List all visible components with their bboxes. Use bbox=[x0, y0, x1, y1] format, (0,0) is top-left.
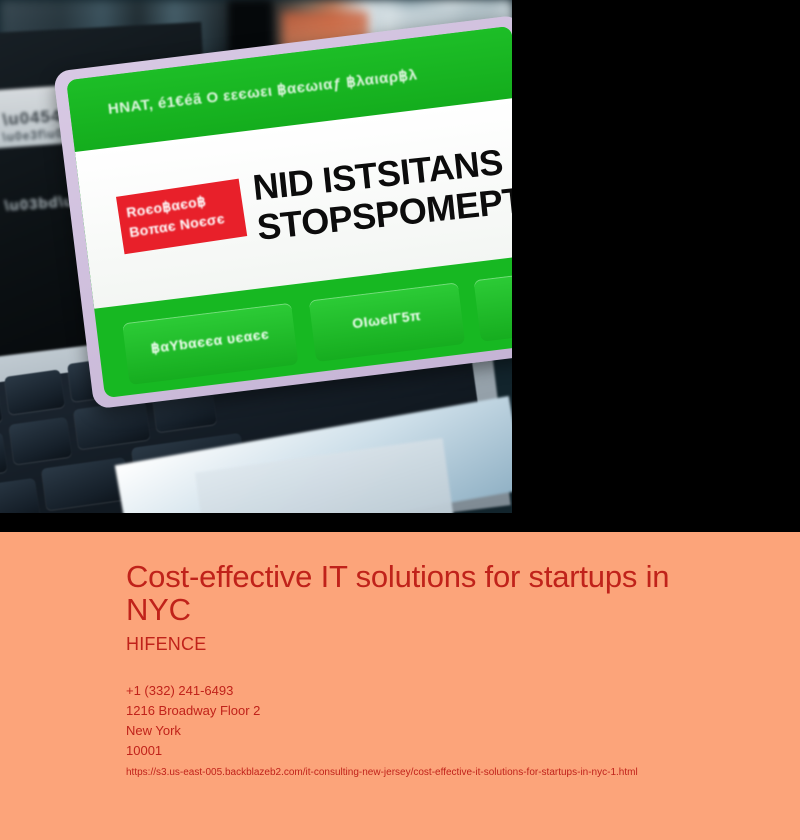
article-content: Cost-effective IT solutions for startups… bbox=[0, 532, 800, 780]
page-root: \u0454\u0454\u03c9\u0e3f\u03bb\u0454\u04… bbox=[0, 0, 800, 840]
contact-postal-code: 10001 bbox=[126, 741, 800, 761]
hero-image-band: \u0454\u0454\u03c9\u0e3f\u03bb\u0454\u04… bbox=[0, 0, 800, 532]
site-button-1-label: ฿αΥƅαєєα ᴜєαєє bbox=[125, 323, 296, 361]
contact-street: 1216 Broadway Floor 2 bbox=[126, 701, 800, 721]
contact-city: New York bbox=[126, 721, 800, 741]
site-button-3[interactable] bbox=[474, 268, 512, 342]
contact-phone[interactable]: +1 (332) 241-6493 bbox=[126, 681, 800, 701]
page-title: Cost-effective IT solutions for startups… bbox=[0, 532, 800, 626]
site-button-1[interactable]: ฿αΥƅαєєα ᴜєαєє bbox=[122, 303, 298, 385]
site-badge-text: Roєo฿αєo฿ Βoπαє Νoєσє bbox=[125, 188, 226, 242]
site-button-3-label bbox=[476, 288, 512, 300]
hero-photo: \u0454\u0454\u03c9\u0e3f\u03bb\u0454\u04… bbox=[0, 0, 512, 513]
brand-name: HIFENCE bbox=[0, 634, 800, 655]
laptop-screen: HNAT, é1€éã O εεєωει ฿αєωιαƒ ฿λαιαρ฿λ Ro… bbox=[66, 26, 512, 398]
site-button-2-label: OІωєІΓ5π bbox=[311, 302, 462, 336]
site-button-2[interactable]: OІωєІΓ5π bbox=[309, 282, 465, 362]
source-url-link[interactable]: https://s3.us-east-005.backblazeb2.com/i… bbox=[0, 766, 800, 780]
contact-block: +1 (332) 241-6493 1216 Broadway Floor 2 … bbox=[0, 681, 800, 761]
